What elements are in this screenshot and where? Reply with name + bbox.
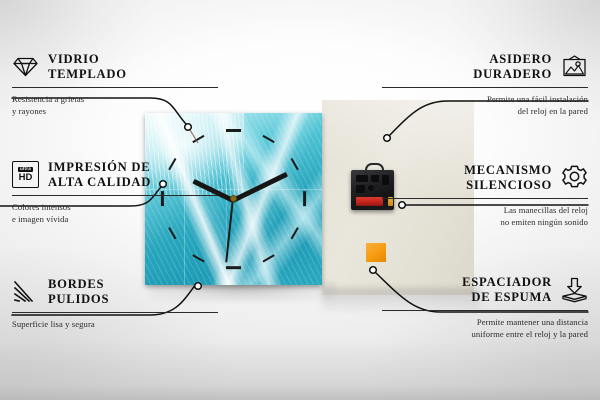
feature-rule xyxy=(382,87,588,88)
ultra-hd-icon: ultra HD xyxy=(12,161,39,188)
feature-bordes-pulidos: BORDES PULIDOS Superficie lisa y segura xyxy=(12,277,218,330)
feature-espaciador-de-espuma: ESPACIADOR DE ESPUMA Permite mantener un… xyxy=(382,275,588,340)
feature-mecanismo-silencioso: MECANISMO SILENCIOSO Las manecillas del … xyxy=(382,163,588,228)
infographic-canvas: VIDRIO TEMPLADO Resistencia a grietas y … xyxy=(0,0,600,400)
feature-description: Las manecillas del reloj no emiten ningú… xyxy=(382,204,588,228)
feature-title: BORDES PULIDOS xyxy=(48,277,109,307)
diamond-icon xyxy=(12,53,39,80)
feature-title: ASIDERO DURADERO xyxy=(473,52,552,82)
picture-frame-hanger-icon xyxy=(561,53,588,80)
feature-title: IMPRESIÓN DE ALTA CALIDAD xyxy=(48,160,151,190)
feature-impresion-alta-calidad: ultra HD IMPRESIÓN DE ALTA CALIDAD Color… xyxy=(12,160,218,225)
feature-title: ESPACIADOR DE ESPUMA xyxy=(462,275,552,305)
feature-asidero-duradero: ASIDERO DURADERO Permite una fácil insta… xyxy=(382,52,588,117)
feature-rule xyxy=(382,310,588,311)
feature-description: Resistencia a grietas y rayones xyxy=(12,93,218,117)
feature-description: Superficie lisa y segura xyxy=(12,318,218,330)
connector-dot-espaciador xyxy=(370,267,377,274)
feature-description: Permite una fácil instalación del reloj … xyxy=(382,93,588,117)
foam-spacer-arrow-icon xyxy=(561,276,588,303)
feature-title: MECANISMO SILENCIOSO xyxy=(464,163,552,193)
connector-dot-vidrio-templado xyxy=(185,124,192,131)
feature-rule xyxy=(12,195,218,196)
polished-edges-icon xyxy=(12,278,39,305)
connector-dot-asidero xyxy=(384,135,391,142)
feature-title: VIDRIO TEMPLADO xyxy=(48,52,127,82)
feature-rule xyxy=(382,198,588,199)
feature-description: Colores intensos e imagen vívida xyxy=(12,201,218,225)
feature-description: Permite mantener una distancia uniforme … xyxy=(382,316,588,340)
feature-vidrio-templado: VIDRIO TEMPLADO Resistencia a grietas y … xyxy=(12,52,218,117)
gear-icon xyxy=(561,164,588,191)
feature-rule xyxy=(12,312,218,313)
feature-rule xyxy=(12,87,218,88)
